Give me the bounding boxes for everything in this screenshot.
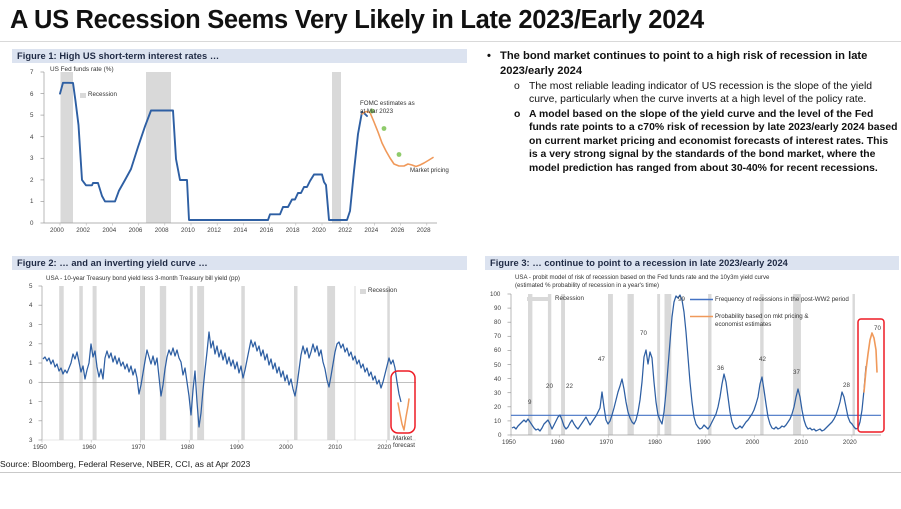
fig2-market-forecast-annotation: Market forecast [393, 435, 431, 450]
market-forecast-highlight-box [391, 371, 415, 433]
bullet-marker: • [487, 49, 500, 79]
fig2-xtick: 2000 [279, 444, 293, 451]
fig2-ytick: 3 [29, 437, 32, 444]
fig2-ytick: 0 [29, 379, 32, 386]
fig3-axis-subtitle: (estimated % probability of recession in… [515, 282, 659, 289]
bullet-level1: • The bond market continues to point to … [487, 49, 899, 79]
fig2-xtick: 1980 [181, 444, 195, 451]
fig1-ytick: 2 [30, 177, 33, 184]
fig1-ytick: 7 [30, 69, 33, 76]
fig1-xtick: 2012 [207, 227, 221, 234]
figure1-caption: Figure 1: High US short-term interest ra… [12, 49, 467, 63]
fig3-ytick: 50 [494, 362, 501, 369]
fig3-axis-title: USA - probit model of risk of recession … [515, 274, 769, 281]
fig3-ytick: 40 [494, 376, 501, 383]
figure3-chart: USA - probit model of risk of recession … [485, 272, 899, 458]
recession-legend-swatch [80, 93, 86, 98]
market-forecast-line [398, 399, 409, 430]
figure1-svg [12, 64, 467, 249]
fig3-peak-label: 70 [640, 330, 647, 337]
bullet-level2: o The most reliable leading indicator of… [487, 80, 899, 107]
fig1-xtick: 2024 [364, 227, 378, 234]
figure1-chart: 7 6 5 4 3 2 1 0 US Fed funds rate (%) Re… [12, 64, 467, 249]
fig1-fomc-annotation: FOMC estimates as at Mar 2023 [360, 100, 418, 116]
fig1-xtick: 2028 [417, 227, 431, 234]
figure2-svg [12, 272, 467, 458]
sub-bullet-marker: o [514, 80, 529, 107]
fig2-xtick: 2020 [377, 444, 391, 451]
fig3-ytick: 30 [494, 390, 501, 397]
fig1-ytick: 4 [30, 134, 33, 141]
fig1-xtick: 2020 [312, 227, 326, 234]
recession-band [332, 72, 341, 223]
fig3-ytick: 70 [494, 333, 501, 340]
title-bar: A US Recession Seems Very Likely in Late… [0, 0, 901, 40]
fig3-xtick: 1950 [502, 439, 516, 446]
fig1-ytick: 3 [30, 155, 33, 162]
fig2-ytick: 2 [29, 341, 32, 348]
fig1-xtick: 2016 [260, 227, 274, 234]
fig2-xtick: 2010 [328, 444, 342, 451]
fig3-peak-label: 47 [598, 356, 605, 363]
recession-band [146, 72, 171, 223]
fig3-xtick: 1960 [551, 439, 565, 446]
fig1-xtick: 2002 [76, 227, 90, 234]
fig2-xtick: 1970 [131, 444, 145, 451]
fig1-ytick: 1 [30, 198, 33, 205]
fig3-peak-label: 99 [678, 296, 685, 303]
fig3-ytick: 100 [490, 291, 500, 298]
recession-band [61, 72, 74, 223]
fig2-ytick: 4 [29, 302, 32, 309]
fig1-ytick: 5 [30, 112, 33, 119]
fig3-peak-label: 42 [759, 356, 766, 363]
recession-bands [59, 286, 390, 440]
fig3-recession-legend-label: Recession [555, 295, 584, 303]
fig3-peak-label: 20 [546, 383, 553, 390]
fomc-estimate-dot [382, 126, 387, 131]
fig3-peak-label: 9 [528, 399, 531, 406]
fig3-peak-label: 36 [717, 365, 724, 372]
fig2-ytick: 1 [29, 399, 32, 406]
fig1-xtick: 2014 [233, 227, 247, 234]
fig3-xtick: 1990 [697, 439, 711, 446]
sub-bullet-marker: o [514, 108, 529, 176]
fig3-frequency-legend-label: Frequency of recessions in the post-WW2 … [715, 296, 849, 304]
fig1-xtick: 2010 [181, 227, 195, 234]
fig1-market-pricing-annotation: Market pricing [410, 167, 450, 175]
fig3-probability-legend-label: Probability based on mkt pricing & econo… [715, 313, 835, 329]
fig3-xtick: 2010 [794, 439, 808, 446]
recession-legend-swatch [527, 297, 551, 301]
sub-bullet-text: The most reliable leading indicator of U… [529, 80, 899, 107]
fig1-xtick: 2008 [155, 227, 169, 234]
recession-legend-swatch [360, 289, 366, 294]
market-pricing-line [362, 112, 433, 167]
fig3-xtick: 2000 [746, 439, 760, 446]
fig3-ytick: 10 [494, 418, 501, 425]
fig1-xtick: 2022 [338, 227, 352, 234]
probability-forecast-line [864, 333, 877, 392]
fig3-ytick: 0 [498, 432, 501, 439]
figure2-chart: USA - 10-year Treasury bond yield less 3… [12, 272, 467, 458]
fig3-xtick: 2020 [843, 439, 857, 446]
fig1-xtick: 2018 [286, 227, 300, 234]
fig1-recession-legend-label: Recession [88, 91, 117, 99]
figure2-caption: Figure 2: … and an inverting yield curve… [12, 256, 467, 270]
fig2-xtick: 1990 [230, 444, 244, 451]
fig1-xtick: 2000 [50, 227, 64, 234]
fig3-peak-label: 28 [843, 382, 850, 389]
fig2-ytick: 2 [29, 418, 32, 425]
bullet-list: • The bond market continues to point to … [487, 49, 899, 175]
bullet-text: The bond market continues to point to a … [500, 49, 899, 79]
footer: CCI ™ The above projections, market outl… [0, 473, 901, 509]
fig2-ytick: 3 [29, 322, 32, 329]
fig3-ytick: 60 [494, 347, 501, 354]
fig3-peak-label: 22 [566, 383, 573, 390]
fig3-ytick: 80 [494, 319, 501, 326]
fig2-xtick: 1950 [33, 444, 47, 451]
fig3-xtick: 1970 [599, 439, 613, 446]
page-title: A US Recession Seems Very Likely in Late… [0, 6, 704, 35]
fig1-xtick: 2026 [391, 227, 405, 234]
fig1-ytick: 6 [30, 91, 33, 98]
fig2-ytick: 5 [29, 283, 32, 290]
fig1-ytick: 0 [30, 220, 33, 227]
fig3-peak-label: 37 [793, 369, 800, 376]
title-divider [0, 41, 901, 42]
fomc-estimate-dot [397, 152, 402, 157]
bullet-level2: o A model based on the slope of the yiel… [487, 108, 899, 176]
fig2-xtick: 1960 [82, 444, 96, 451]
fig1-xtick: 2004 [102, 227, 116, 234]
figure3-caption: Figure 3: … continue to point to a reces… [485, 256, 899, 270]
source-note: Source: Bloomberg, Federal Reserve, NBER… [0, 459, 250, 469]
sub-bullet-text: A model based on the slope of the yield … [529, 108, 899, 176]
fig2-ytick: 1 [29, 360, 32, 367]
fig1-xtick: 2006 [129, 227, 143, 234]
fig2-recession-legend-label: Recession [368, 287, 397, 295]
fig1-axis-title: US Fed funds rate (%) [50, 66, 114, 73]
yield-curve-spread-line [43, 332, 401, 427]
fig2-axis-title: USA - 10-year Treasury bond yield less 3… [46, 275, 240, 282]
slide: A US Recession Seems Very Likely in Late… [0, 0, 901, 509]
fig3-peak-label: 70 [874, 325, 881, 332]
fig3-ytick: 20 [494, 404, 501, 411]
fed-funds-line [60, 83, 367, 220]
fig3-xtick: 1980 [648, 439, 662, 446]
fig3-ytick: 90 [494, 305, 501, 312]
